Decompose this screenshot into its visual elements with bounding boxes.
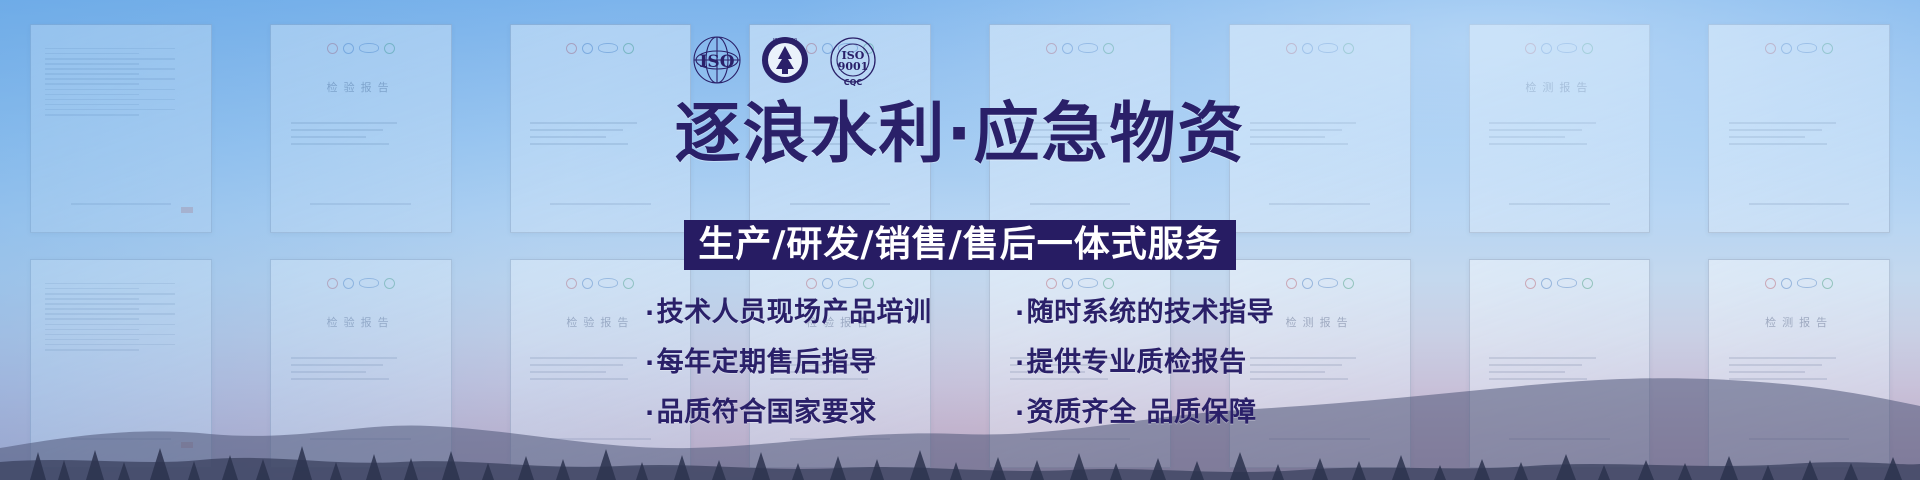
certification-mark-icon [1062,278,1073,289]
certification-mark-icon [1557,278,1577,288]
certificate-title: 检测报告 [1470,79,1650,95]
certification-mark-icon [582,43,593,54]
certificate-thumbnail [510,24,692,233]
certificate-title: 检验报告 [750,314,930,330]
certification-mark-icon [1781,43,1792,54]
certification-mark-icon [806,278,817,289]
certificate-logo-row [1004,279,1155,288]
certificate-logo-row [285,279,436,288]
certification-mark-icon [384,43,395,54]
certificate-title: 检测报告 [1230,314,1410,330]
certification-mark-icon [343,278,354,289]
certificate-footer-line [1749,203,1850,205]
certification-mark-icon [1541,278,1552,289]
certification-mark-icon [343,43,354,54]
certification-mark-icon [1078,43,1098,53]
certificate-logo-row [525,44,676,53]
certificate-thumbnail [1229,24,1411,233]
certificate-footer-line [1269,203,1370,205]
certificate-text-lines [1250,122,1390,150]
certification-mark-icon [1525,278,1536,289]
certification-mark-icon [327,43,338,54]
certification-mark-icon [598,278,618,288]
certification-mark-icon [1302,278,1313,289]
certificate-logo-row [1724,44,1875,53]
certification-mark-icon [1582,43,1593,54]
certification-mark-icon [384,278,395,289]
certification-mark-icon [1046,43,1057,54]
certificate-logo-row [1244,44,1395,53]
certification-mark-icon [1286,278,1297,289]
certification-mark-icon [1765,43,1776,54]
iso-globe-badge: ISO [690,33,744,87]
certificate-logo-row [1484,44,1635,53]
certificate-thumbnail [1708,24,1890,233]
svg-text:ISO14000: ISO14000 [773,38,798,44]
certification-mark-icon [1103,43,1114,54]
certificate-thumbnail [989,24,1171,233]
certificate-footer-line [1030,203,1131,205]
certificate-text-lines [45,48,196,119]
certification-mark-icon [1062,43,1073,54]
certification-mark-icon [1797,43,1817,53]
certificate-thumbnail [30,24,212,233]
certificate-text-lines [1489,122,1629,150]
certificate-text-lines [291,122,431,150]
svg-text:CQC: CQC [844,78,863,87]
certification-mark-icon [359,278,379,288]
certificate-title: 检验报告 [511,314,691,330]
landscape-silhouette [0,330,1920,480]
certificate-thumbnail: 检验报告 [270,24,452,233]
certificate-thumbnail: 检测报告 [1469,24,1651,233]
certificate-footer-line [310,203,411,205]
certificate-logo-row [1004,44,1155,53]
certification-mark-icon [623,278,634,289]
certificate-title: 检验报告 [271,314,451,330]
subtitle-bar: 生产/研发/销售/售后一体式服务 [684,220,1235,270]
certificate-footer-line [71,203,172,205]
certificate-logo-row [285,44,436,53]
certification-mark-icon [566,43,577,54]
certification-mark-icon [1343,278,1354,289]
certification-mark-icon [1318,43,1338,53]
certificate-title: 检测报告 [1709,314,1889,330]
certification-mark-icon [1822,43,1833,54]
certification-mark-icon [1525,43,1536,54]
certificate-logo-row [525,279,676,288]
certification-mark-icon [623,43,634,54]
certificate-text-lines [530,122,670,150]
certification-mark-icon [1343,43,1354,54]
certificate-text-lines [770,122,910,150]
certification-mark-icon [1582,278,1593,289]
certificate-stamp-icon [181,207,193,213]
certification-mark-icon [1103,278,1114,289]
certificate-text-lines [1729,122,1869,150]
certification-mark-icon [1318,278,1338,288]
certificate-footer-line [550,203,651,205]
promo-banner: 检验报告检测报告检验报告检验报告检验报告检测报告检测报告 [0,0,1920,480]
certificate-title: 检验报告 [271,79,451,95]
certification-badges: ISO ISO14000 ISO 9001 [690,32,880,88]
certificate-logo-row [1724,279,1875,288]
certification-mark-icon [822,278,833,289]
certification-mark-icon [1302,43,1313,54]
certification-mark-icon [598,43,618,53]
certification-mark-icon [1797,278,1817,288]
certification-mark-icon [838,278,858,288]
certificate-footer-line [790,203,891,205]
certification-mark-icon [863,278,874,289]
certificate-logo-row [765,279,916,288]
certificate-text-lines [1010,122,1150,150]
svg-text:ISO: ISO [699,52,734,72]
certification-mark-icon [1541,43,1552,54]
svg-text:9001: 9001 [838,60,869,73]
iso-14000-badge: ISO14000 [758,33,812,87]
certification-mark-icon [1286,43,1297,54]
certification-mark-icon [359,43,379,53]
certification-mark-icon [327,278,338,289]
certification-mark-icon [1046,278,1057,289]
certification-mark-icon [1557,43,1577,53]
certification-mark-icon [566,278,577,289]
certificate-logo-row [1244,279,1395,288]
certificate-logo-row [1484,279,1635,288]
certification-mark-icon [1822,278,1833,289]
certification-mark-icon [1765,278,1776,289]
certification-mark-icon [582,278,593,289]
certificate-footer-line [1509,203,1610,205]
certification-mark-icon [1781,278,1792,289]
iso-9001-cqc-badge: ISO 9001 CQC [826,33,880,87]
certification-mark-icon [1078,278,1098,288]
